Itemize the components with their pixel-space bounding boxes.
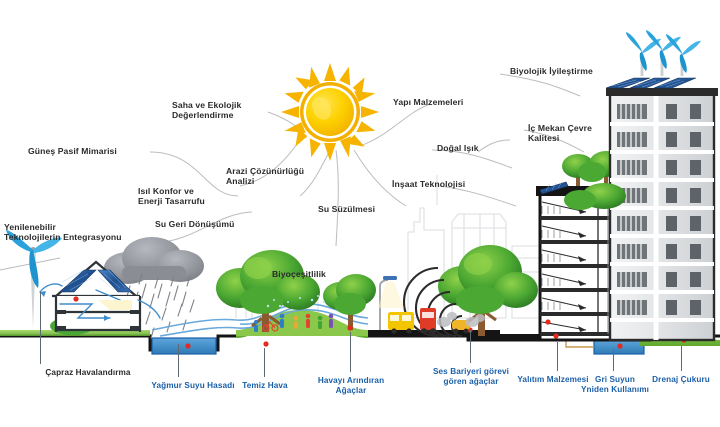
solar-panel-icon xyxy=(606,78,696,88)
label-insaat-teknolojisi: İnşaat Teknolojisi xyxy=(392,179,492,189)
leader-line-gri-suyun-yniden xyxy=(613,350,614,371)
truck-icon xyxy=(420,308,436,334)
leader-line-temiz-hava xyxy=(264,348,265,377)
label-isil-konfor: Isıl Konfor ve Enerji Tasarrufu xyxy=(138,186,238,206)
marker-dot xyxy=(553,333,558,338)
infographic-canvas: Güneş Pasif MimarisiSaha ve Ekolojik Değ… xyxy=(0,0,720,427)
wind-turbine-icon xyxy=(6,230,62,328)
label-capraz-havalandirma: Çapraz Havalandırma xyxy=(32,368,144,378)
label-gunes-pasif-mimarisi: Güneş Pasif Mimarisi xyxy=(28,146,148,156)
marker-dot xyxy=(263,341,268,346)
rain-cloud-icon xyxy=(104,237,204,284)
rainwater-harvest-tank xyxy=(152,338,216,354)
leader-line-capraz-havalandirma xyxy=(40,292,41,364)
leader-line-ses-bariyeri xyxy=(470,330,471,363)
label-su-suzulmesi: Su Süzülmesi xyxy=(318,204,404,214)
sun-icon xyxy=(281,63,379,161)
roof-wind-turbine-icon xyxy=(626,30,701,76)
label-su-geri-donusumu: Su Geri Dönüşümü xyxy=(155,219,259,229)
label-dogal-isik: Doğal Işık xyxy=(437,143,509,153)
label-arazi-cozunurlugu: Arazi Çözünürlüğü Analizi xyxy=(226,166,330,186)
label-drenaj-cukuru: Drenaj Çukuru xyxy=(638,375,720,385)
label-yapi-malzemeleri: Yapı Malzemeleri xyxy=(393,97,493,107)
marker-dot xyxy=(617,343,622,348)
label-havayi-arindiran: Havayı Arındıran Ağaçlar xyxy=(302,376,400,395)
marker-dot xyxy=(347,325,352,330)
marker-dot xyxy=(73,296,78,301)
label-biyocesitlilik: Biyoçeşitlilik xyxy=(272,269,326,279)
leader-line-drenaj-cukuru xyxy=(681,346,682,371)
leader-line-havayi-arindiran xyxy=(350,332,351,372)
tree-icon xyxy=(564,190,596,210)
label-biyolojik-iyilestirme: Biyolojik İyileştirme xyxy=(510,66,626,76)
leader-line-yagmur-suyu-hasadi xyxy=(178,344,179,377)
leader-line-yalitim-malzemesi xyxy=(557,342,558,371)
marker-dot xyxy=(185,343,190,348)
label-temiz-hava: Temiz Hava xyxy=(225,381,305,391)
marker-dot xyxy=(545,319,550,324)
label-yenilenebilir-teknolojiler: Yenilenebilir Teknolojilerin Entegrasyon… xyxy=(4,222,140,242)
label-ic-mekan-cevre: İç Mekan Çevre Kalitesi xyxy=(528,123,630,143)
label-saha-ve-ekolojik: Saha ve Ekolojik Değerlendirme xyxy=(172,100,280,120)
